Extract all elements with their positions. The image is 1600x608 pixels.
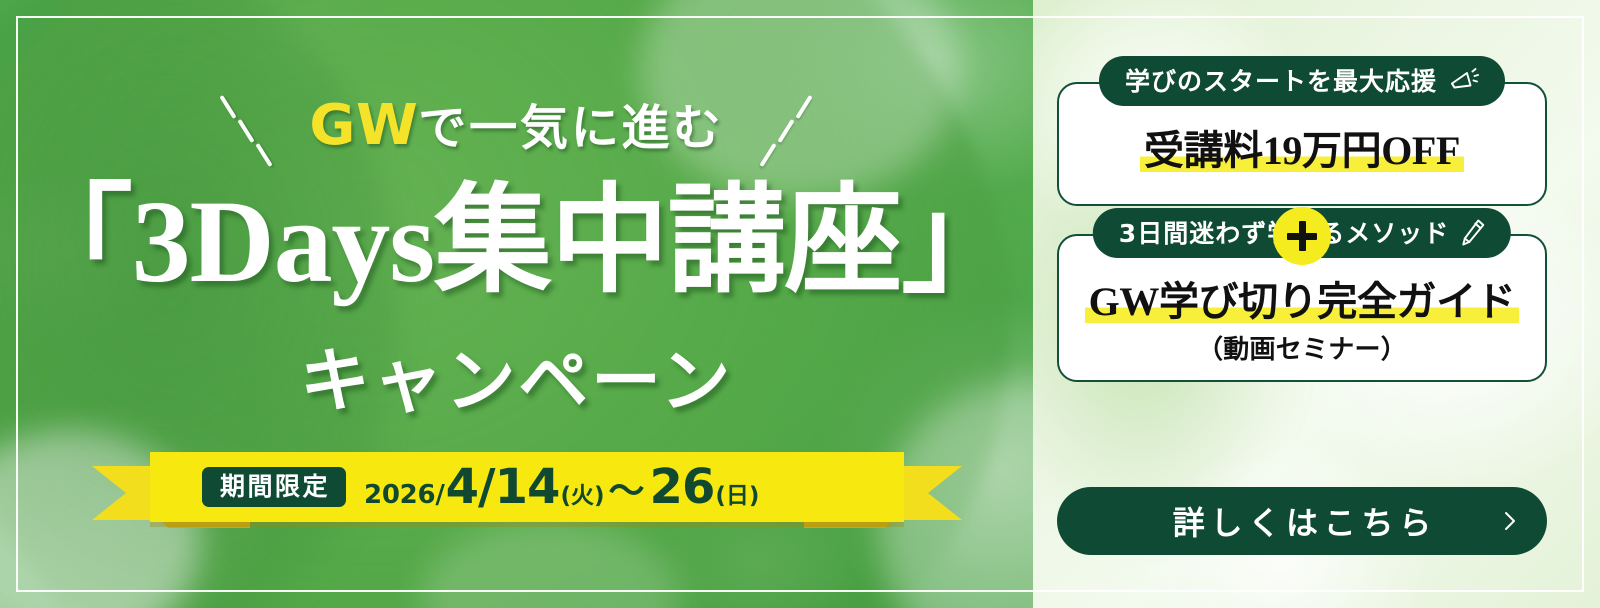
offer-card-header-label: 学びのスタートを最大応援 xyxy=(1125,69,1437,94)
chevron-right-icon xyxy=(1499,510,1521,532)
hero-kicker: GWで一気に進む xyxy=(0,88,1033,158)
pencil-icon xyxy=(1461,219,1485,247)
kicker-rest-text: で一気に進む xyxy=(418,100,723,156)
offer-card-note: （動画セミナー） xyxy=(1197,329,1407,366)
date-separator: ～ xyxy=(609,462,645,514)
ribbon-body: 期間限定 2026/ 4/14 (火) ～ 26 (日) xyxy=(150,452,904,522)
offer-card-list: 学びのスタートを最大応援 受講料19万円OFF xyxy=(1057,54,1547,382)
date-end-day: (日) xyxy=(715,476,759,510)
offer-card-headline: GW学び切り完全ガイド xyxy=(1085,279,1520,325)
offer-card-tuition-discount: 学びのスタートを最大応援 受講料19万円OFF xyxy=(1057,82,1547,206)
hero-subtitle: キャンペーン xyxy=(0,325,1033,426)
date-start-day: (火) xyxy=(560,476,604,510)
kicker-gw-text: GW xyxy=(309,93,418,158)
date-start: 4/14 xyxy=(446,459,560,515)
cta-button-label: 詳しくはこちら xyxy=(1167,498,1437,544)
megaphone-icon xyxy=(1449,68,1479,94)
promo-banner: GWで一気に進む 「3Days集中講座」 キャンペーン 期間限定 2026/ 4… xyxy=(0,0,1600,608)
date-year: 2026/ xyxy=(364,480,445,510)
date-end: 26 xyxy=(650,459,715,515)
hero-title: 「3Days集中講座」 xyxy=(0,178,1033,305)
campaign-date-range: 2026/ 4/14 (火) ～ 26 (日) xyxy=(364,459,759,515)
plus-icon xyxy=(1273,207,1331,265)
offer-card-headline: 受講料19万円OFF xyxy=(1140,128,1464,174)
limited-period-badge: 期間限定 xyxy=(202,467,346,507)
period-ribbon: 期間限定 2026/ 4/14 (火) ～ 26 (日) xyxy=(92,452,962,534)
offer-card-header: 学びのスタートを最大応援 xyxy=(1099,56,1505,106)
cta-button[interactable]: 詳しくはこちら xyxy=(1057,487,1547,555)
